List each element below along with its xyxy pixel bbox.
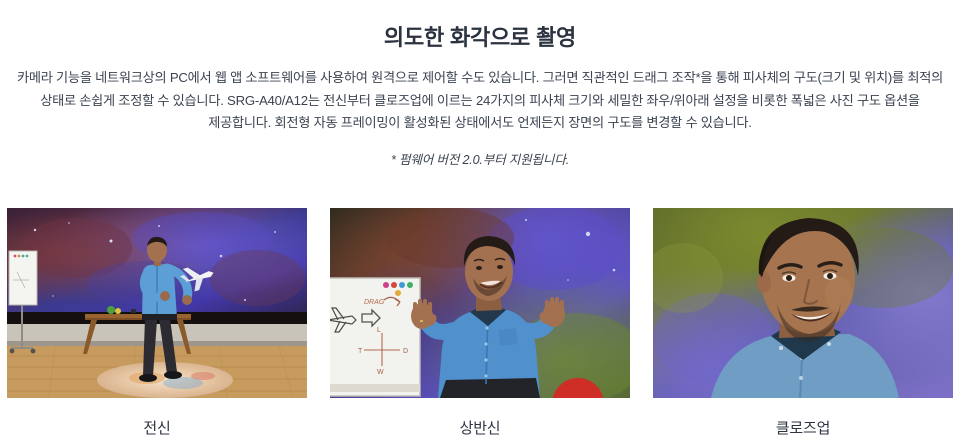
photo-upper-body: DRAG T D L W: [330, 208, 630, 398]
gallery-caption-upper-body: 상반신: [330, 417, 630, 438]
gallery-item-upper-body: DRAG T D L W: [330, 208, 630, 438]
gallery-item-full-body: 전신: [7, 208, 307, 438]
svg-text:DRAG: DRAG: [364, 299, 385, 306]
framing-gallery: 전신: [0, 208, 960, 438]
footnote-text: * 펌웨어 버전 2.0.부터 지원됩니다.: [0, 149, 960, 168]
body-paragraph: 카메라 기능을 네트워크상의 PC에서 웹 앱 소프트웨어를 사용하여 원격으로…: [15, 67, 945, 135]
page-root: 의도한 화각으로 촬영 카메라 기능을 네트워크상의 PC에서 웹 앱 소프트웨…: [0, 15, 960, 445]
gallery-caption-close-up: 클로즈업: [653, 417, 953, 438]
svg-text:W: W: [377, 369, 384, 376]
svg-text:D: D: [403, 348, 408, 355]
gallery-item-close-up: 클로즈업: [653, 208, 953, 438]
photo-close-up: [653, 208, 953, 398]
page-title: 의도한 화각으로 촬영: [0, 15, 960, 53]
gallery-caption-full-body: 전신: [7, 417, 307, 438]
svg-text:L: L: [377, 327, 381, 334]
photo-full-body: [7, 208, 307, 398]
svg-text:T: T: [358, 348, 363, 355]
